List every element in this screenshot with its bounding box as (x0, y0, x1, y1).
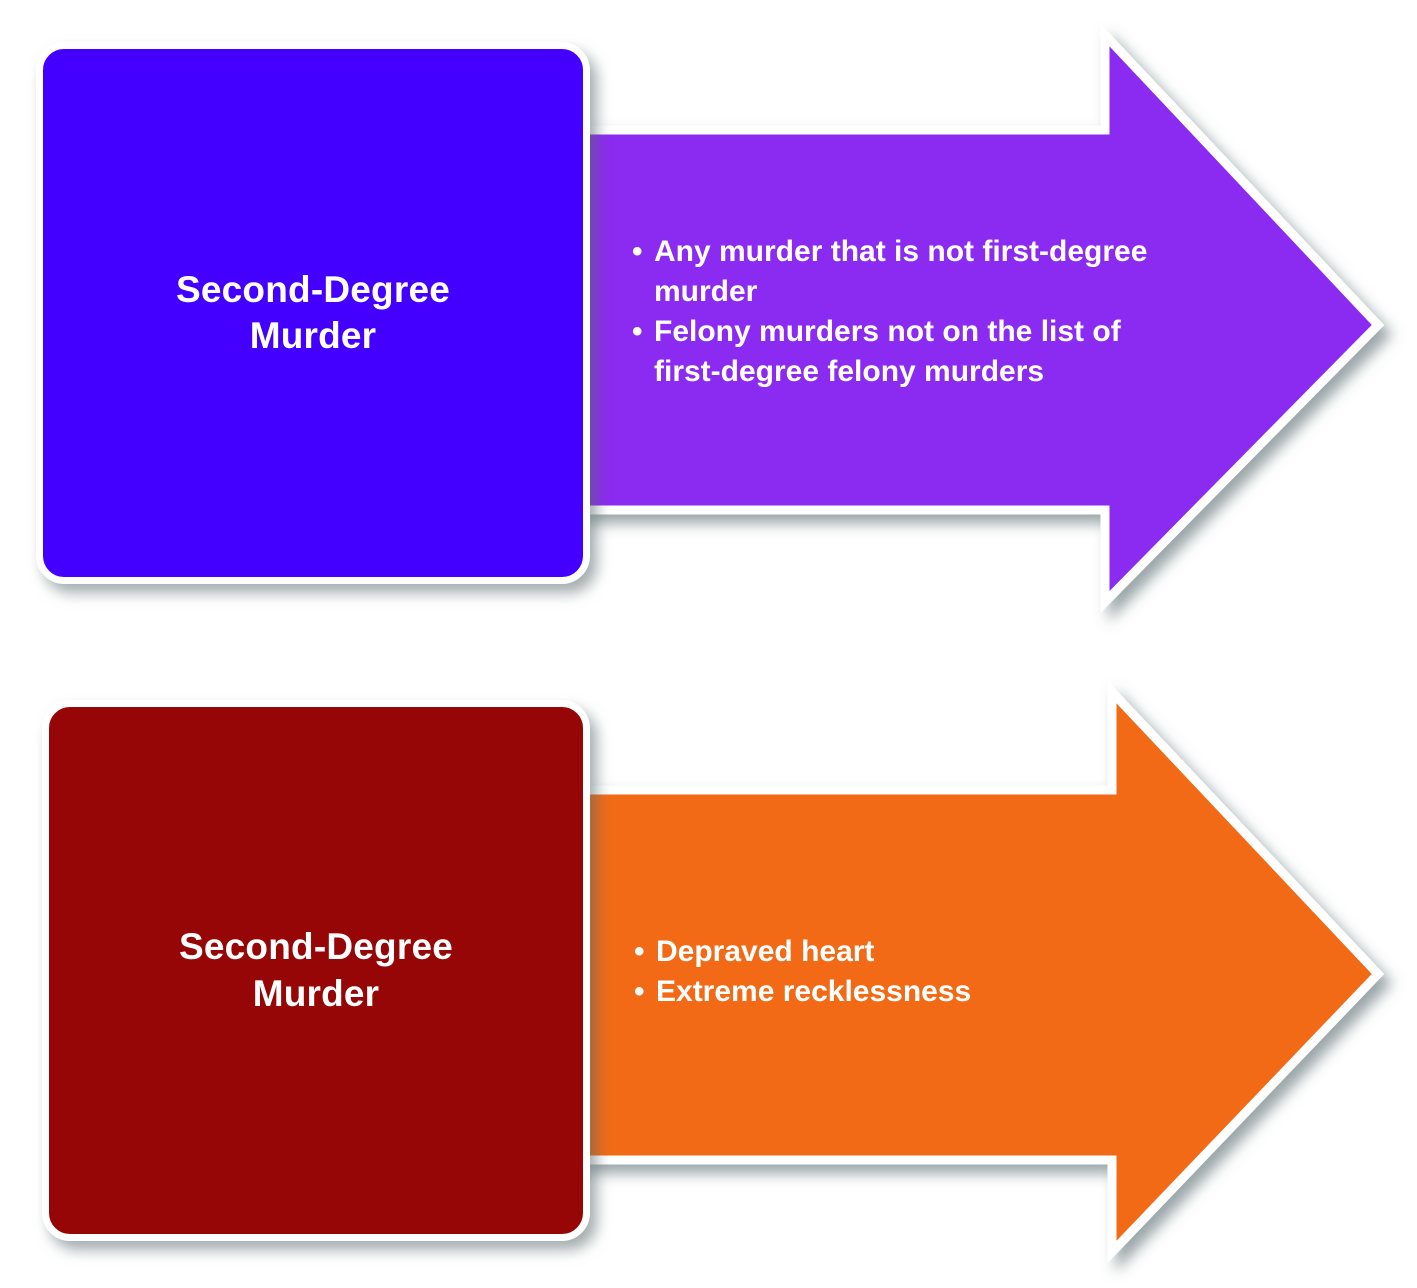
box-blue-label: Second-Degree Murder (158, 267, 468, 360)
box-red-label: Second-Degree Murder (161, 924, 471, 1017)
diagram-canvas: Second-Degree Murder Any murder that is … (0, 0, 1417, 1288)
box-red-label-line2: Murder (253, 973, 380, 1014)
arrow-purple-bullet-2: Felony murders not on the list of first-… (630, 312, 1170, 392)
arrow-orange-bullet-list: Depraved heart Extreme recklessness (632, 932, 1112, 1012)
arrow-purple-content: Any murder that is not first-degree murd… (630, 232, 1170, 392)
box-second-degree-murder-red[interactable]: Second-Degree Murder (42, 700, 590, 1241)
arrow-orange-bullet-2: Extreme recklessness (632, 972, 1112, 1012)
arrow-purple-bullet-list: Any murder that is not first-degree murd… (630, 232, 1170, 392)
box-blue-label-line2: Murder (250, 315, 377, 356)
arrow-orange-bullet-1: Depraved heart (632, 932, 1112, 972)
arrow-purple-bullet-1: Any murder that is not first-degree murd… (630, 232, 1170, 312)
arrow-orange-content: Depraved heart Extreme recklessness (632, 932, 1112, 1012)
box-red-label-line1: Second-Degree (179, 926, 453, 967)
box-second-degree-murder-blue[interactable]: Second-Degree Murder (36, 42, 590, 584)
box-blue-label-line1: Second-Degree (176, 269, 450, 310)
